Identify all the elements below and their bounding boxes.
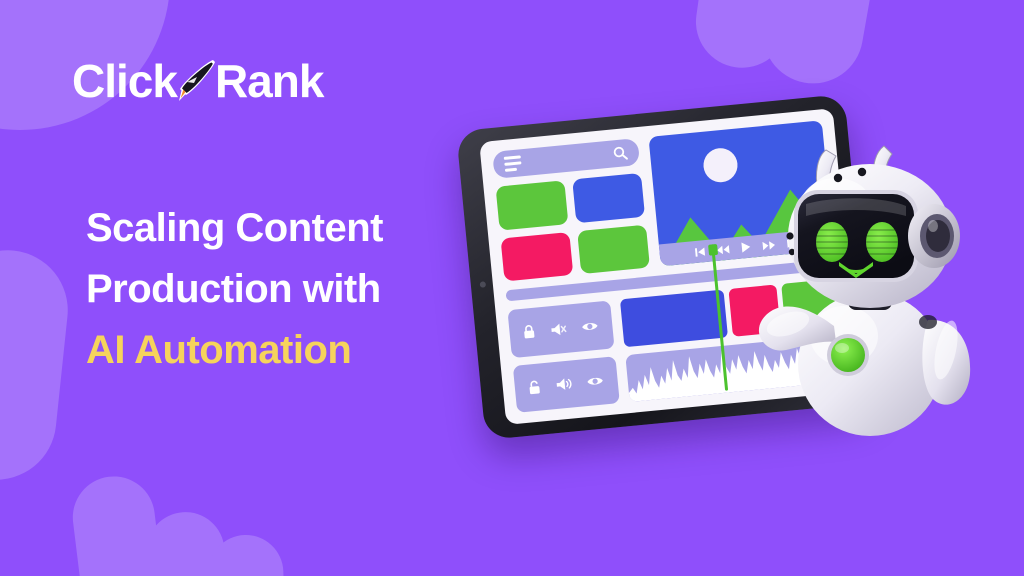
rocket-arrow-icon [173, 58, 217, 104]
screen-left-panel [492, 138, 649, 281]
play-icon[interactable] [740, 241, 752, 254]
blob-mid-left [0, 244, 74, 485]
skip-back-icon[interactable] [694, 246, 706, 258]
search-icon[interactable] [612, 145, 628, 161]
tile-green-2[interactable] [577, 224, 650, 274]
sun-shape [702, 147, 739, 184]
clip-blue[interactable] [620, 290, 728, 347]
speaker-muted-icon[interactable] [550, 321, 567, 336]
hamburger-icon[interactable] [504, 155, 522, 172]
face-screen [794, 190, 918, 282]
ear-disc-right [908, 204, 960, 268]
control-row-2 [513, 356, 620, 413]
lock-open-icon[interactable] [528, 379, 542, 395]
logo-word-click: Click [72, 58, 177, 104]
robot-character [778, 150, 1018, 440]
fast-forward-icon[interactable] [762, 239, 776, 251]
control-rows [507, 300, 619, 412]
tile-blue-1[interactable] [572, 173, 645, 223]
headline-line-1: Scaling Content [86, 198, 506, 259]
headline-line-2: Production with [86, 259, 506, 320]
rewind-icon[interactable] [716, 243, 730, 255]
eye-icon[interactable] [586, 375, 604, 389]
eye-icon[interactable] [581, 319, 599, 333]
brand-logo[interactable]: Click Rank [72, 52, 323, 110]
tile-green-1[interactable] [496, 180, 569, 230]
app-topbar [492, 138, 640, 179]
page-title: Scaling Content Production with AI Autom… [86, 198, 506, 380]
tile-grid [496, 173, 650, 282]
lock-closed-icon[interactable] [522, 324, 536, 340]
headline-line-3-accent: AI Automation [86, 320, 506, 381]
tile-pink-1[interactable] [500, 232, 573, 282]
blob-top-right-b [755, 0, 885, 91]
chest-button [827, 334, 869, 376]
speaker-waves-icon[interactable] [555, 377, 573, 393]
torso [798, 292, 942, 436]
logo-word-rank: Rank [215, 58, 323, 104]
control-row-1 [507, 300, 614, 357]
